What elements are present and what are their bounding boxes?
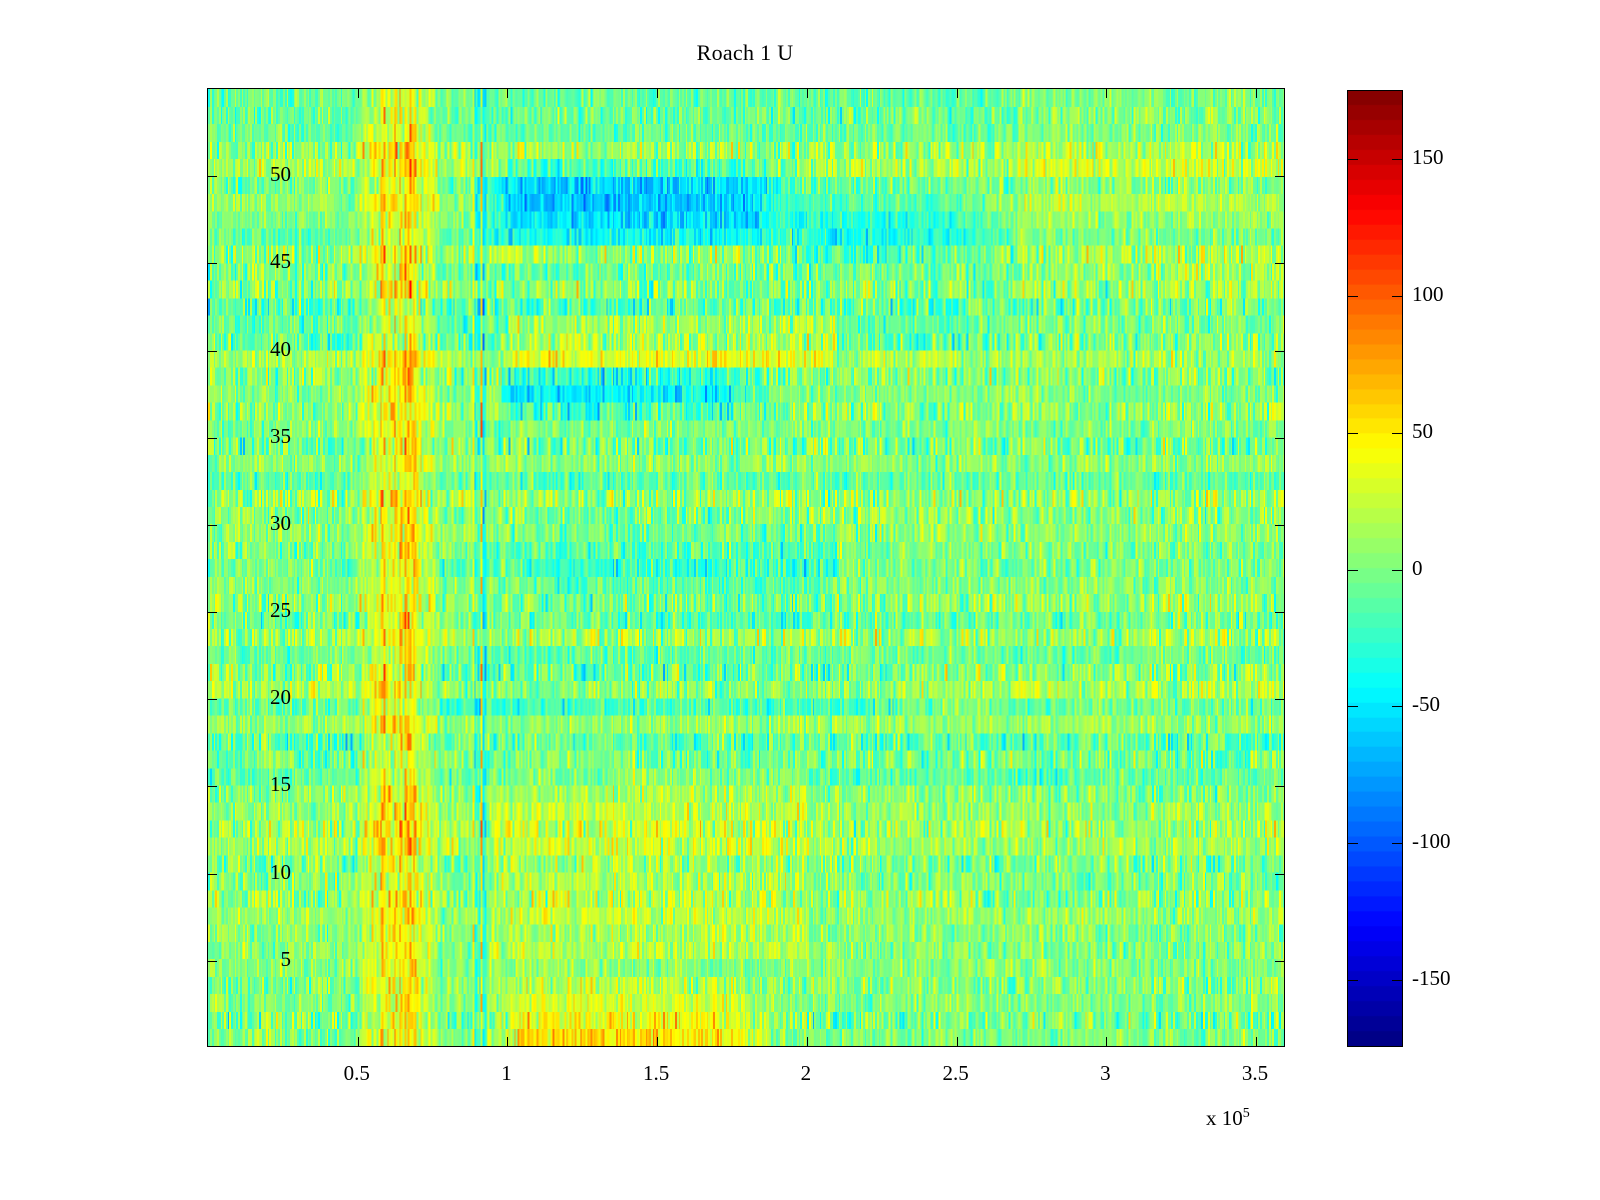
colorbar-tick-mark — [1348, 706, 1358, 707]
x-axis-exponent-label: x 105 — [1206, 1106, 1250, 1131]
y-tick-mark — [208, 612, 217, 613]
x-tick-mark — [657, 1037, 658, 1046]
x-tick-label: 2 — [801, 1063, 812, 1084]
exponent-power: 5 — [1243, 1106, 1250, 1121]
x-tick-mark-top — [807, 89, 808, 98]
colorbar-tick-mark-right — [1392, 980, 1402, 981]
x-tick-mark — [507, 1037, 508, 1046]
y-tick-label: 25 — [270, 600, 291, 621]
x-tick-mark-top — [358, 89, 359, 98]
page-title: Roach 1 U — [0, 40, 1490, 66]
y-tick-mark-right — [1275, 874, 1284, 875]
x-tick-mark — [957, 1037, 958, 1046]
heatmap-image[interactable] — [208, 89, 1284, 1046]
x-tick-mark-top — [507, 89, 508, 98]
x-tick-label: 3 — [1100, 1063, 1111, 1084]
colorbar-tick-label: -150 — [1412, 968, 1451, 989]
colorbar-tick-label: 0 — [1412, 558, 1423, 579]
colorbar-tick-mark — [1348, 159, 1358, 160]
colorbar-tick-label: -50 — [1412, 694, 1440, 715]
x-tick-mark-top — [657, 89, 658, 98]
y-tick-label: 35 — [270, 426, 291, 447]
x-tick-label: 2.5 — [942, 1063, 968, 1084]
y-tick-mark-right — [1275, 176, 1284, 177]
y-tick-label: 10 — [270, 862, 291, 883]
x-tick-mark — [1106, 1037, 1107, 1046]
colorbar-tick-mark — [1348, 843, 1358, 844]
heatmap-axes[interactable] — [207, 88, 1285, 1047]
y-tick-label: 15 — [270, 774, 291, 795]
y-tick-mark-right — [1275, 263, 1284, 264]
colorbar-tick-label: -100 — [1412, 831, 1451, 852]
exponent-mantissa: x 10 — [1206, 1106, 1243, 1130]
y-tick-mark-right — [1275, 525, 1284, 526]
x-tick-mark-top — [957, 89, 958, 98]
colorbar-tick-mark — [1348, 980, 1358, 981]
y-tick-label: 45 — [270, 251, 291, 272]
colorbar-tick-label: 50 — [1412, 421, 1433, 442]
y-tick-label: 40 — [270, 339, 291, 360]
y-tick-mark — [208, 351, 217, 352]
colorbar-tick-mark — [1348, 570, 1358, 571]
y-tick-mark — [208, 525, 217, 526]
x-tick-mark — [358, 1037, 359, 1046]
x-tick-label: 1 — [501, 1063, 512, 1084]
y-tick-label: 5 — [281, 949, 292, 970]
y-tick-mark-right — [1275, 786, 1284, 787]
colorbar-tick-mark-right — [1392, 433, 1402, 434]
x-tick-label: 3.5 — [1242, 1063, 1268, 1084]
colorbar-tick-label: 150 — [1412, 147, 1444, 168]
x-tick-label: 0.5 — [344, 1063, 370, 1084]
x-tick-label: 1.5 — [643, 1063, 669, 1084]
y-tick-mark — [208, 961, 217, 962]
y-tick-label: 20 — [270, 687, 291, 708]
y-tick-mark-right — [1275, 699, 1284, 700]
x-tick-mark-top — [1256, 89, 1257, 98]
y-tick-mark — [208, 874, 217, 875]
y-tick-mark-right — [1275, 612, 1284, 613]
y-tick-mark — [208, 176, 217, 177]
y-tick-label: 30 — [270, 513, 291, 534]
x-tick-mark — [807, 1037, 808, 1046]
y-tick-mark-right — [1275, 438, 1284, 439]
y-tick-mark — [208, 263, 217, 264]
y-tick-mark — [208, 786, 217, 787]
x-tick-mark — [1256, 1037, 1257, 1046]
colorbar-tick-mark-right — [1392, 296, 1402, 297]
colorbar[interactable] — [1347, 90, 1403, 1047]
colorbar-tick-mark-right — [1392, 706, 1402, 707]
y-tick-label: 50 — [270, 164, 291, 185]
colorbar-gradient — [1348, 91, 1402, 1046]
y-tick-mark-right — [1275, 961, 1284, 962]
colorbar-tick-label: 100 — [1412, 284, 1444, 305]
y-tick-mark — [208, 438, 217, 439]
y-tick-mark-right — [1275, 351, 1284, 352]
colorbar-tick-mark-right — [1392, 159, 1402, 160]
colorbar-tick-mark — [1348, 296, 1358, 297]
colorbar-tick-mark-right — [1392, 570, 1402, 571]
colorbar-tick-mark-right — [1392, 843, 1402, 844]
figure-canvas: Roach 1 U x 105 51015202530354045500.511… — [0, 0, 1600, 1200]
colorbar-tick-mark — [1348, 433, 1358, 434]
x-tick-mark-top — [1106, 89, 1107, 98]
y-tick-mark — [208, 699, 217, 700]
